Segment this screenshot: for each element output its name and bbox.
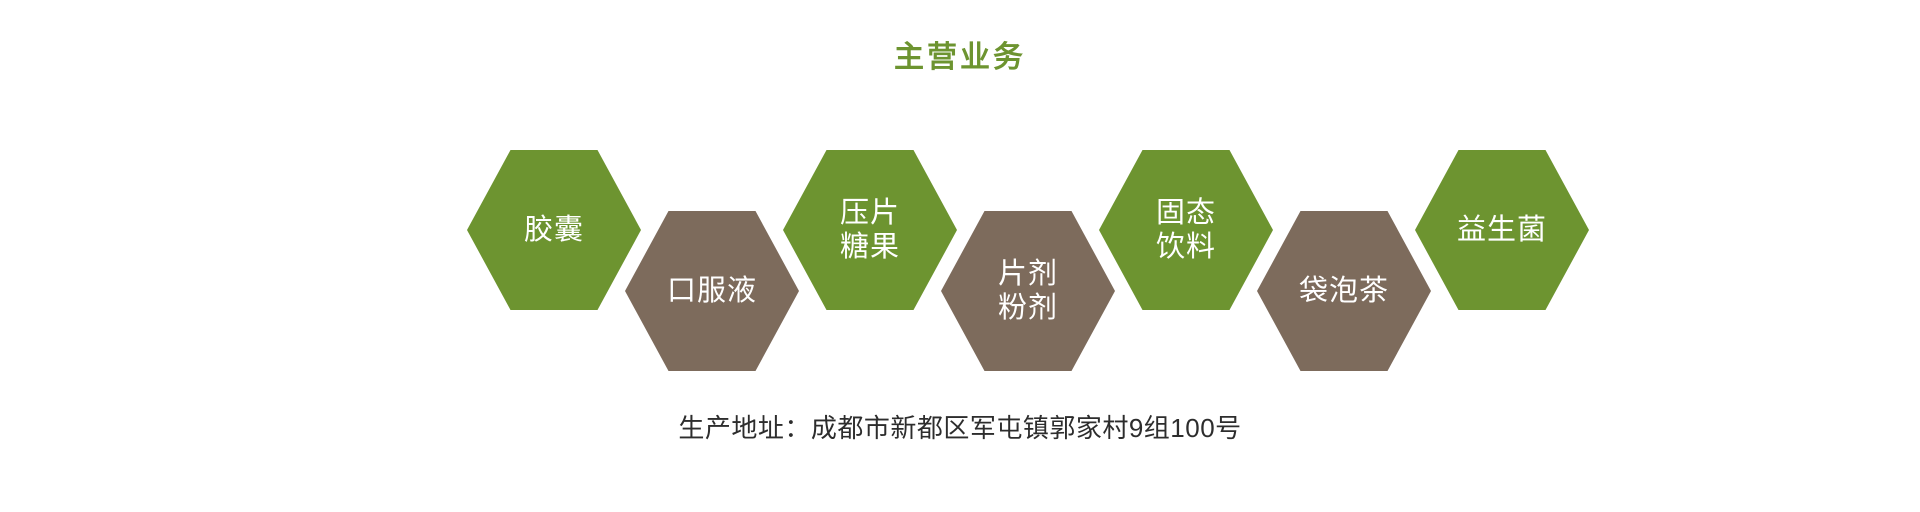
hexagon-5-固态-饮料[interactable]: 固态 饮料	[1099, 150, 1273, 310]
hexagon-label: 袋泡茶	[1299, 274, 1389, 308]
hexagon-7-益生菌[interactable]: 益生菌	[1415, 150, 1589, 310]
hexagon-2-口服液[interactable]: 口服液	[625, 211, 799, 371]
hexagon-3-压片-糖果[interactable]: 压片 糖果	[783, 150, 957, 310]
hexagon-label: 片剂 粉剂	[998, 257, 1058, 325]
page-title: 主营业务	[0, 40, 1920, 76]
production-address: 生产地址：成都市新都区军屯镇郭家村9组100号	[0, 412, 1920, 446]
hexagon-diagram: 胶囊口服液压片 糖果片剂 粉剂固态 饮料袋泡茶益生菌	[467, 150, 1467, 370]
hexagon-label: 固态 饮料	[1156, 196, 1216, 264]
hexagon-1-胶囊[interactable]: 胶囊	[467, 150, 641, 310]
hexagon-label: 胶囊	[524, 213, 584, 247]
hexagon-4-片剂-粉剂[interactable]: 片剂 粉剂	[941, 211, 1115, 371]
hexagon-6-袋泡茶[interactable]: 袋泡茶	[1257, 211, 1431, 371]
hexagon-label: 口服液	[667, 274, 757, 308]
hexagon-label: 益生菌	[1457, 213, 1547, 247]
hexagon-label: 压片 糖果	[840, 196, 900, 264]
